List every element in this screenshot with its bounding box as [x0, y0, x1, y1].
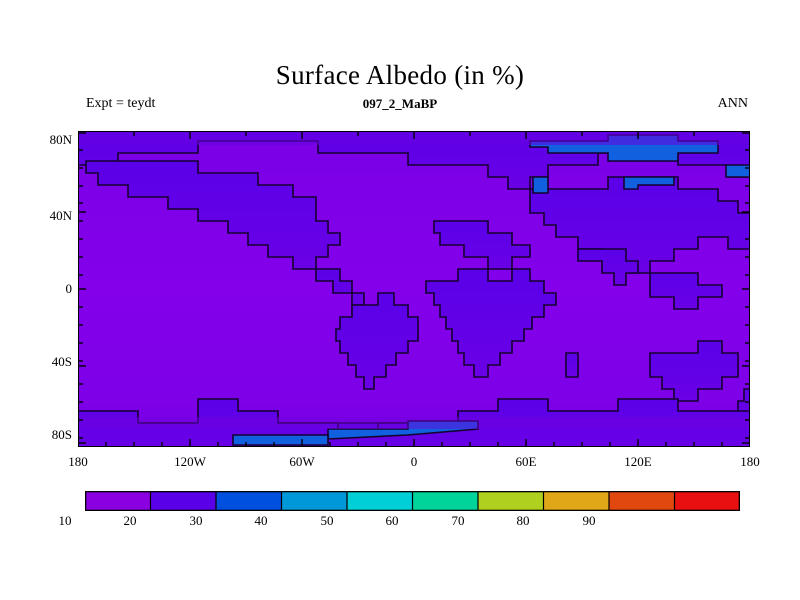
colorbar-cell — [282, 491, 348, 511]
page-title: Surface Albedo (in %) — [0, 60, 800, 91]
colorbar-swatches — [85, 491, 740, 511]
colorbar-tick-20: 20 — [110, 513, 150, 529]
x-tick-label-0: 0 — [384, 455, 444, 468]
experiment-label: Expt = teydt — [86, 96, 155, 112]
colorbar-tick-70: 70 — [438, 513, 478, 529]
colorbar — [85, 491, 740, 511]
colorbar-cell — [216, 491, 282, 511]
weddell-sea-ice — [233, 435, 328, 445]
colorbar-tick-30: 30 — [176, 513, 216, 529]
madagascar — [566, 353, 578, 377]
colorbar-cell — [609, 491, 675, 511]
x-tick-label-60e: 60E — [496, 455, 556, 468]
albedo-map — [78, 131, 750, 447]
colorbar-tick-50: 50 — [307, 513, 347, 529]
colorbar-cell — [544, 491, 610, 511]
south-pole-haze — [78, 417, 750, 429]
colorbar-cell — [675, 491, 741, 511]
x-tick-label-60w: 60W — [272, 455, 332, 468]
colorbar-cell — [151, 491, 217, 511]
y-tick-label-40s: 40S — [26, 355, 72, 368]
season-label: ANN — [718, 96, 748, 112]
y-tick-label-80s: 80S — [26, 428, 72, 441]
colorbar-tick-10: 10 — [45, 513, 85, 529]
colorbar-cell — [85, 491, 151, 511]
northeast-asia-patch — [533, 177, 548, 193]
y-tick-label-40n: 40N — [26, 209, 72, 222]
x-tick-label-120w: 120W — [160, 455, 220, 468]
colorbar-tick-40: 40 — [241, 513, 281, 529]
colorbar-cell — [413, 491, 479, 511]
x-tick-label-180w: 180 — [48, 455, 108, 468]
colorbar-cell — [347, 491, 413, 511]
y-tick-label-0: 0 — [26, 282, 72, 295]
colorbar-cell — [478, 491, 544, 511]
map-plot-area — [78, 131, 750, 447]
arctic-northeast-patch — [726, 165, 750, 177]
colorbar-tick-60: 60 — [372, 513, 412, 529]
colorbar-tick-90: 90 — [569, 513, 609, 529]
x-tick-label-180e: 180 — [720, 455, 780, 468]
y-tick-label-80n: 80N — [26, 133, 72, 146]
colorbar-tick-80: 80 — [503, 513, 543, 529]
x-tick-label-120e: 120E — [608, 455, 668, 468]
figure-canvas: Surface Albedo (in %) 097_2_MaBP Expt = … — [0, 0, 800, 600]
